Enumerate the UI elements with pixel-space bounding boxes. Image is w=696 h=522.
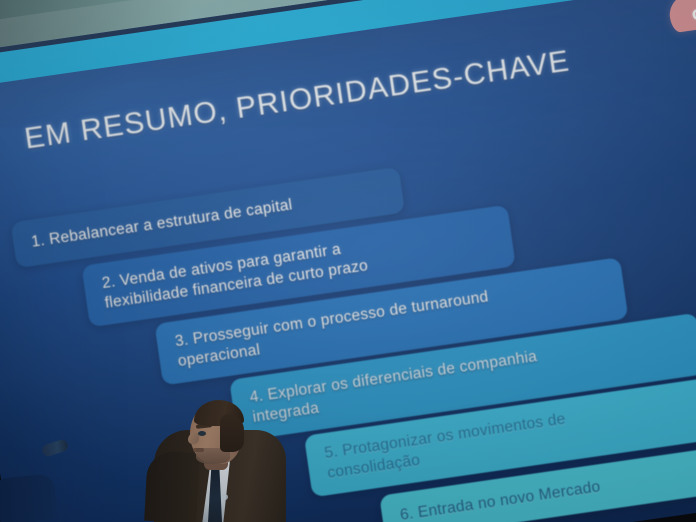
microphone-head [41,438,69,457]
speaker-hair-side [220,414,244,452]
podium-base [0,473,58,522]
bullet-text-6: 6. Entrada no novo Mercado [399,477,602,522]
speaker-shoulder [144,451,200,522]
speaker-eye [198,431,206,436]
speaker-mouth [193,448,204,452]
speaker-nose [188,433,199,444]
speaker-figure [152,392,292,522]
screenshot-stage: oi EM RESUMO, PRIORIDADES-CHAVE 1. Rebal… [0,0,696,522]
speaker-lapel-pin [222,494,228,500]
